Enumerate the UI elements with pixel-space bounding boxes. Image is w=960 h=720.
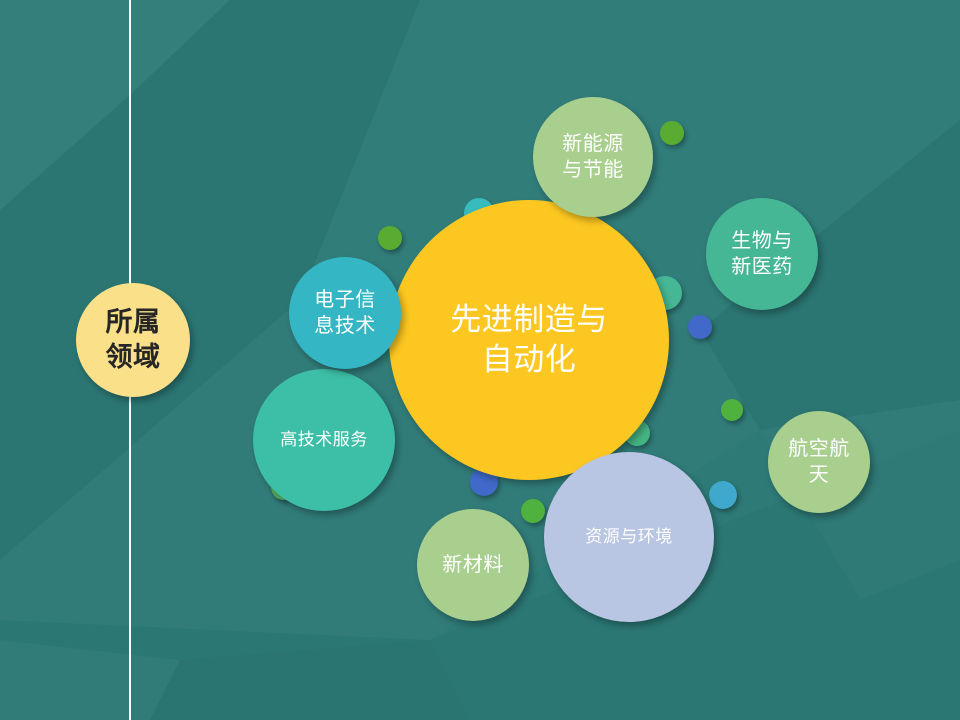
center-bubble-label: 先进制造与自动化: [444, 300, 614, 381]
bubble-bio-medicine[interactable]: 生物与新医药: [706, 198, 818, 310]
bubble-aerospace[interactable]: 航空航天: [768, 411, 870, 513]
bubble-high-tech-service-label: 高技术服务: [274, 429, 374, 451]
bubble-resources-environment[interactable]: 资源与环境: [544, 452, 714, 622]
bubble-new-energy[interactable]: 新能源与节能: [533, 97, 653, 217]
bubble-aerospace-label: 航空航天: [782, 436, 856, 488]
dot-blue-right-icon: [688, 315, 712, 339]
bubble-high-tech-service[interactable]: 高技术服务: [253, 369, 395, 511]
bubble-bio-medicine-label: 生物与新医药: [725, 228, 799, 280]
dot-blue-lower-right-icon: [709, 481, 737, 509]
bubble-electronic-information-technology[interactable]: 电子信息技术: [289, 257, 401, 369]
bubble-electronic-information-technology-label: 电子信息技术: [308, 287, 382, 339]
bubble-resources-environment-label: 资源与环境: [579, 526, 679, 548]
dot-green-bottom-icon: [521, 499, 545, 523]
bubble-new-materials[interactable]: 新材料: [417, 509, 529, 621]
dot-green-upper-left-icon: [378, 226, 402, 250]
dot-green-right-mid-icon: [721, 399, 743, 421]
bubble-new-materials-label: 新材料: [436, 552, 510, 578]
title-bubble[interactable]: 所属领域: [76, 283, 190, 397]
bubble-new-energy-label: 新能源与节能: [556, 131, 630, 183]
center-bubble[interactable]: 先进制造与自动化: [389, 200, 669, 480]
dot-green-top-right-icon: [660, 121, 684, 145]
slide-canvas: 先进制造与自动化新能源与节能生物与新医药航空航天资源与环境新材料高技术服务电子信…: [0, 0, 960, 720]
title-bubble-label: 所属领域: [100, 305, 167, 375]
